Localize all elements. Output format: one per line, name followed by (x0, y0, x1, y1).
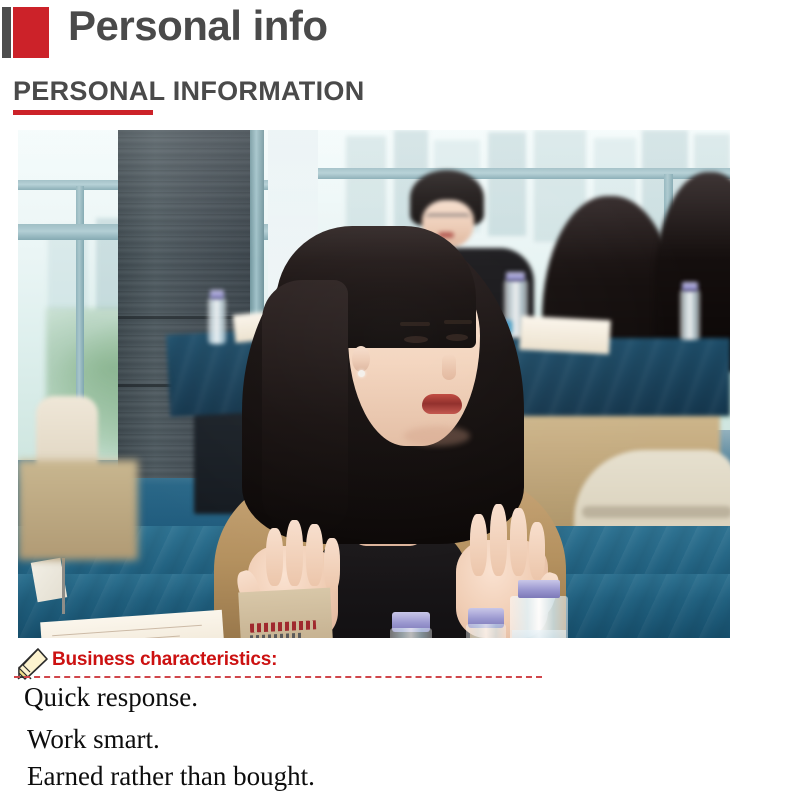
logo-mark (2, 7, 49, 58)
personal-photo (18, 130, 730, 638)
logo-bar-dark-icon (2, 7, 11, 58)
photo-canvas (18, 130, 730, 638)
bottle-cap (518, 580, 560, 598)
speaker-ear (352, 346, 370, 372)
bottle-cap (506, 272, 525, 281)
carpet (18, 460, 138, 560)
earring (358, 370, 365, 377)
finger (306, 524, 323, 586)
speaker-brow (400, 322, 430, 326)
speaker-chin-shadow (404, 426, 470, 446)
speaker-eye (404, 336, 428, 343)
water-bottle (680, 290, 700, 340)
page-title: Personal info (68, 2, 328, 50)
water-bottle (390, 628, 432, 638)
bottle-cap (210, 290, 224, 299)
finger (324, 538, 340, 592)
speaker-eye (446, 334, 468, 341)
section-label: PERSONAL INFORMATION (13, 76, 365, 107)
finger (529, 522, 545, 580)
list-item: Earned rather than bought. (27, 763, 315, 790)
finger (286, 520, 303, 586)
bottle-cap (682, 282, 698, 291)
document (519, 316, 611, 355)
water-bottle (466, 624, 506, 638)
speaker-brow (444, 320, 472, 324)
logo-bar-red-icon (13, 7, 49, 58)
wood-column-seam (118, 316, 250, 319)
city-building (346, 136, 386, 232)
flag-pole (62, 558, 65, 614)
finger (490, 504, 507, 576)
list-item: Work smart. (27, 726, 160, 753)
list-item: Quick response. (24, 684, 198, 711)
section-underline (13, 110, 153, 115)
speaker-hair-side (262, 280, 348, 530)
business-characteristics-heading: Business characteristics: (52, 649, 277, 671)
finger (266, 528, 283, 586)
section-divider (14, 676, 542, 678)
water-bottle (208, 298, 226, 344)
page-header: Personal info PERSONAL INFORMATION (0, 0, 800, 120)
finger (470, 514, 487, 576)
speaker-nose (442, 354, 456, 380)
bottle-label (512, 630, 566, 638)
finger (510, 508, 527, 576)
speaker-lips (422, 394, 462, 414)
business-characteristics-section: Business characteristics: Quick response… (0, 638, 800, 800)
